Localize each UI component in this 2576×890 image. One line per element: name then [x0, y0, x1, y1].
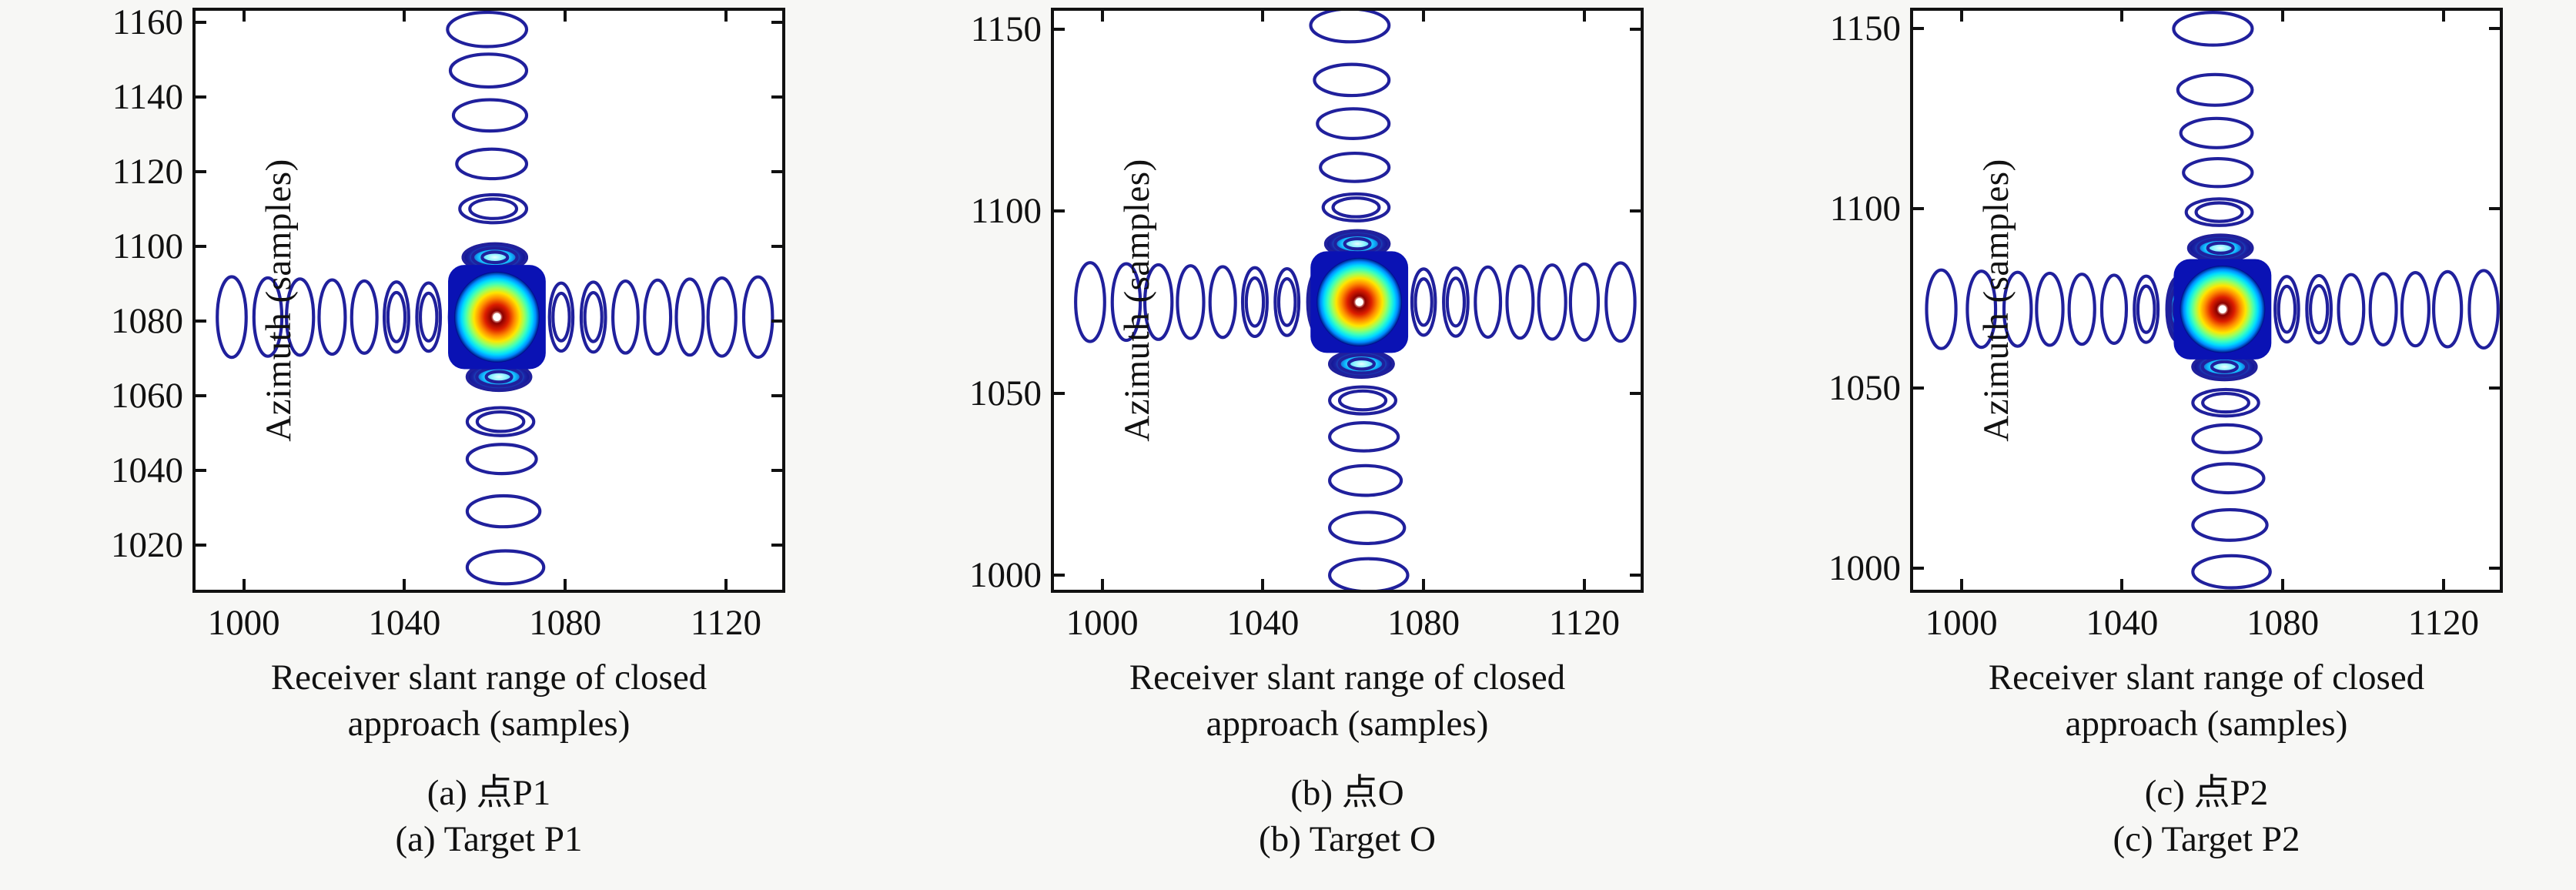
y-tick-mark-right — [771, 21, 782, 24]
y-tick-mark-right — [2489, 27, 2500, 30]
y-tick-label: 1160 — [112, 2, 183, 43]
x-axis-label: Receiver slant range of closedapproach (… — [1051, 654, 1644, 747]
x-tick-label: 1080 — [2246, 602, 2319, 644]
y-tick-mark-right — [1630, 28, 1641, 31]
y-tick-mark-right — [771, 469, 782, 472]
y-tick-mark-right — [771, 245, 782, 248]
y-tick-mark — [1054, 574, 1065, 577]
y-tick-mark-right — [1630, 574, 1641, 577]
x-tick-mark — [1261, 579, 1264, 590]
x-axis-label-line1: Receiver slant range of closed — [1051, 654, 1644, 701]
x-tick-label: 1120 — [2408, 602, 2479, 644]
y-tick-mark-right — [771, 320, 782, 323]
x-tick-mark — [2442, 579, 2445, 590]
y-tick-mark-right — [771, 544, 782, 547]
x-axis-label-line1: Receiver slant range of closed — [1910, 654, 2503, 701]
y-tick-mark — [196, 95, 206, 99]
y-tick-mark — [196, 469, 206, 472]
panel-caption-en-c: (c) Target P2 — [1910, 816, 2503, 862]
panel-caption-cn-b: (b) 点O — [1051, 770, 1644, 816]
y-tick-mark-right — [2489, 207, 2500, 210]
y-tick-mark — [196, 170, 206, 173]
y-tick-mark — [1054, 28, 1065, 31]
x-tick-label: 1120 — [1549, 602, 1620, 644]
x-axis-label-line1: Receiver slant range of closed — [192, 654, 785, 701]
x-axis-label: Receiver slant range of closedapproach (… — [1910, 654, 2503, 747]
y-tick-label: 1040 — [111, 450, 183, 491]
x-tick-mark — [564, 579, 567, 590]
x-tick-mark-top — [243, 11, 246, 22]
panel-caption-a: (a) 点P1(a) Target P1 — [192, 770, 785, 862]
y-tick-mark — [196, 21, 206, 24]
x-tick-mark-top — [2120, 11, 2123, 22]
y-tick-mark — [196, 394, 206, 397]
x-tick-mark — [2281, 579, 2284, 590]
y-tick-mark — [1913, 27, 1924, 30]
x-tick-label: 1120 — [691, 602, 761, 644]
plot-area-b: 10001050110011501000104010801120Azimuth … — [1051, 8, 1644, 593]
y-tick-label: 1020 — [111, 524, 183, 566]
x-tick-mark — [1422, 579, 1425, 590]
y-tick-label: 1050 — [1828, 367, 1901, 409]
panel-b: 10001050110011501000104010801120Azimuth … — [858, 0, 1717, 890]
y-tick-mark — [196, 320, 206, 323]
x-tick-label: 1000 — [208, 602, 280, 644]
y-tick-mark — [196, 245, 206, 248]
y-tick-mark-right — [1630, 392, 1641, 395]
y-tick-label: 1060 — [111, 375, 183, 417]
y-axis-label: Azimuth (samples) — [258, 8, 299, 593]
figure-root: 1020104010601080110011201140116010001040… — [0, 0, 2576, 890]
panel-caption-c: (c) 点P2(c) Target P2 — [1910, 770, 2503, 862]
panel-caption-cn-c: (c) 点P2 — [1910, 770, 2503, 816]
y-tick-mark-right — [771, 394, 782, 397]
x-axis-label-line2: approach (samples) — [192, 701, 785, 747]
y-tick-label: 1140 — [112, 76, 183, 118]
panel-caption-b: (b) 点O(b) Target O — [1051, 770, 1644, 862]
panel-c: 10001050110011501000104010801120Azimuth … — [1718, 0, 2576, 890]
panel-caption-cn-a: (a) 点P1 — [192, 770, 785, 816]
x-tick-mark-top — [1101, 11, 1104, 22]
x-tick-mark-top — [1422, 11, 1425, 22]
x-tick-mark — [403, 579, 406, 590]
y-tick-mark — [1054, 209, 1065, 212]
y-tick-label: 1000 — [1828, 547, 1901, 589]
x-tick-mark — [1101, 579, 1104, 590]
panel-caption-en-b: (b) Target O — [1051, 816, 1644, 862]
x-tick-mark-top — [1960, 11, 1963, 22]
y-axis-label: Azimuth (samples) — [1116, 8, 1158, 593]
x-tick-mark-top — [564, 11, 567, 22]
y-tick-label: 1000 — [969, 554, 1042, 596]
x-axis-label: Receiver slant range of closedapproach (… — [192, 654, 785, 747]
x-tick-mark — [1583, 579, 1586, 590]
y-tick-mark-right — [1630, 209, 1641, 212]
x-axis-label-line2: approach (samples) — [1051, 701, 1644, 747]
y-tick-mark — [196, 544, 206, 547]
y-tick-mark-right — [2489, 386, 2500, 390]
x-tick-mark-top — [2442, 11, 2445, 22]
x-tick-mark — [2120, 579, 2123, 590]
x-tick-mark-top — [1261, 11, 1264, 22]
panel-a: 1020104010601080110011201140116010001040… — [0, 0, 858, 890]
x-tick-mark-top — [724, 11, 728, 22]
y-tick-label: 1050 — [969, 373, 1042, 414]
x-tick-mark — [724, 579, 728, 590]
y-axis-label: Azimuth (samples) — [1975, 8, 2017, 593]
x-tick-label: 1000 — [1066, 602, 1139, 644]
y-tick-mark — [1913, 207, 1924, 210]
x-tick-label: 1080 — [1387, 602, 1460, 644]
x-tick-label: 1000 — [1925, 602, 1998, 644]
y-tick-mark-right — [771, 170, 782, 173]
x-tick-label: 1040 — [1226, 602, 1299, 644]
y-tick-mark-right — [771, 95, 782, 99]
y-tick-label: 1100 — [1830, 188, 1901, 229]
panel-caption-en-a: (a) Target P1 — [192, 816, 785, 862]
y-tick-mark — [1913, 386, 1924, 390]
plot-area-a: 1020104010601080110011201140116010001040… — [192, 8, 785, 593]
y-tick-mark-right — [2489, 567, 2500, 570]
y-tick-mark — [1054, 392, 1065, 395]
y-tick-label: 1150 — [971, 8, 1042, 50]
y-tick-mark — [1913, 567, 1924, 570]
x-tick-mark-top — [2281, 11, 2284, 22]
y-tick-label: 1080 — [111, 300, 183, 342]
x-tick-mark-top — [403, 11, 406, 22]
x-tick-mark — [1960, 579, 1963, 590]
x-tick-label: 1040 — [2086, 602, 2158, 644]
x-tick-mark — [243, 579, 246, 590]
x-tick-label: 1040 — [368, 602, 440, 644]
x-axis-label-line2: approach (samples) — [1910, 701, 2503, 747]
y-tick-label: 1120 — [112, 151, 183, 192]
plot-area-c: 10001050110011501000104010801120Azimuth … — [1910, 8, 2503, 593]
y-tick-label: 1100 — [971, 190, 1042, 232]
y-tick-label: 1100 — [112, 226, 183, 267]
y-tick-label: 1150 — [1830, 8, 1901, 49]
x-tick-mark-top — [1583, 11, 1586, 22]
x-tick-label: 1080 — [529, 602, 601, 644]
